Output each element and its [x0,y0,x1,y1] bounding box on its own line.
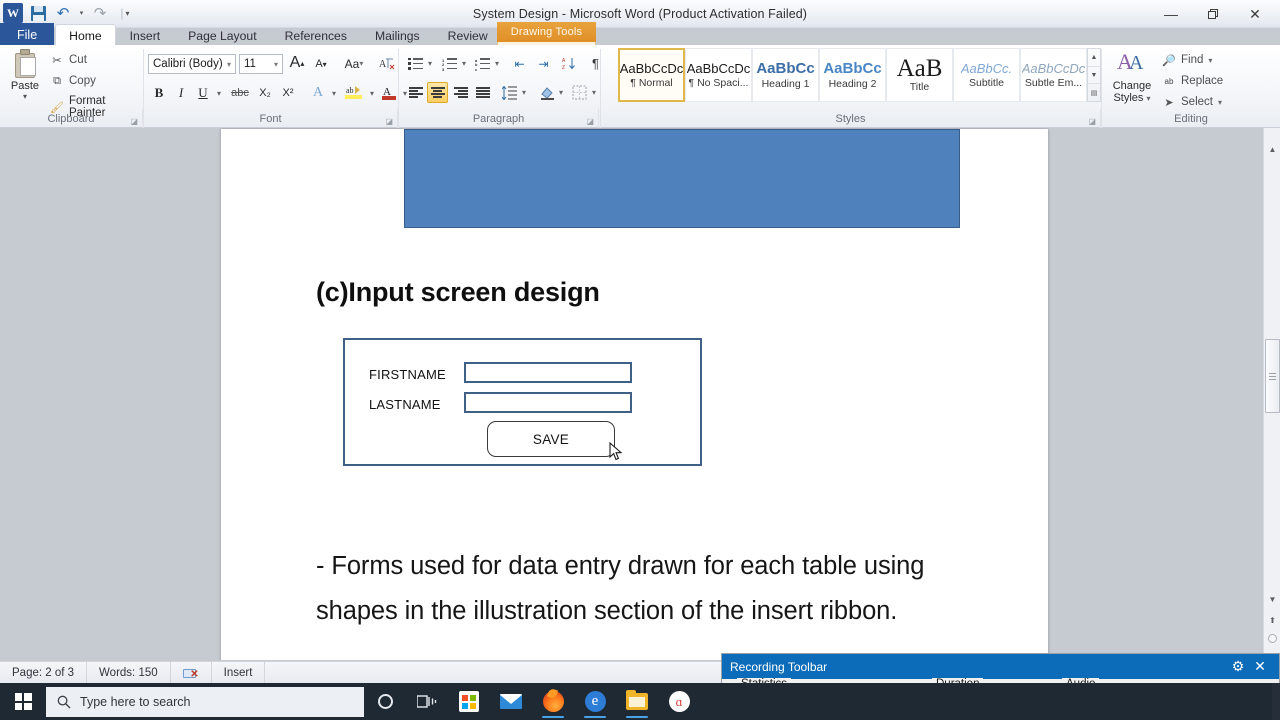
group-label-font: Font◪ [144,109,398,128]
increase-indent-button[interactable]: ⇥ [533,53,554,74]
cortana-icon[interactable] [364,683,406,720]
copy-button[interactable]: ⧉ Copy [50,74,96,88]
highlight-dropdown-icon[interactable]: ▾ [366,85,378,101]
gallery-scroll-down-icon[interactable]: ▼ [1088,67,1100,85]
chevron-down-icon[interactable]: ▾ [274,60,278,69]
system-tray[interactable] [1272,683,1280,720]
shrink-font-button[interactable]: A▾ [310,54,332,74]
font-color-button[interactable]: A [378,82,400,104]
tab-file[interactable]: File [0,23,54,46]
ribbon-group-paragraph: ▾ 123 ▾ abc ▾ ⇤ ⇥ AZ ¶ [399,45,599,109]
change-styles-label-line2: Styles ▾ [1110,92,1154,105]
recorder-app-icon[interactable]: ɑ [658,683,700,720]
font-size-input[interactable]: 11 ▾ [239,54,283,74]
styles-dialog-launcher[interactable]: ◪ [1088,117,1096,126]
previous-page-icon[interactable]: ⬆ [1264,612,1280,629]
ribbon-tabs: File Home Insert Page Layout References … [0,22,556,46]
borders-icon [572,85,587,100]
style-subtle-emphasis[interactable]: AaBbCcDc Subtle Em... [1020,48,1087,102]
gallery-scroll-up-icon[interactable]: ▲ [1088,49,1100,67]
contextual-tab-header: Drawing Tools [497,22,596,42]
text-effects-dropdown-icon[interactable]: ▾ [328,85,340,101]
text-effects-button[interactable]: A [307,83,329,103]
ribbon-group-labels: Clipboard◪ Font◪ Paragraph◪ Styles◪ Edit… [0,109,1280,128]
align-center-button[interactable] [427,82,448,103]
gear-icon[interactable]: ⚙ [1227,656,1249,678]
font-name-value: Calibri (Body) [153,58,224,70]
line-spacing-button[interactable] [499,82,520,103]
font-dialog-launcher[interactable]: ◪ [385,117,393,126]
grow-font-button[interactable]: A▴ [286,52,308,74]
status-word-count[interactable]: Words: 150 [87,662,171,684]
ribbon-group-editing: AA Change Styles ▾ 🔎 Find ▾ ab Replace ➤… [1102,45,1280,109]
style-subtitle[interactable]: AaBbCc. Subtitle [953,48,1020,102]
svg-text:A: A [562,58,566,64]
bullets-button[interactable] [405,53,426,74]
recording-toolbar-title: Recording Toolbar [730,660,1227,674]
numbering-dropdown-icon[interactable]: ▾ [459,55,469,71]
ribbon-tab-strip: File Home Insert Page Layout References … [0,22,1280,46]
decrease-indent-button[interactable]: ⇤ [509,53,530,74]
bold-button[interactable]: B [149,83,169,103]
ribbon-group-styles: AaBbCcDc ¶ Normal AaBbCcDc ¶ No Spaci...… [601,45,1101,109]
binoculars-icon: 🔎 [1162,53,1176,67]
save-button-shape[interactable]: SAVE [487,421,615,457]
paste-button[interactable]: Paste ▾ [8,49,42,101]
field-label-firstname: FIRSTNAME [369,367,446,382]
numbering-button[interactable]: 123 [439,53,460,74]
superscript-button[interactable]: X² [277,83,299,103]
font-size-value: 11 [244,58,271,70]
firefox-icon[interactable] [532,683,574,720]
align-left-icon [409,87,423,98]
justify-button[interactable] [472,82,493,103]
clear-formatting-button[interactable]: A [376,52,398,74]
bullets-dropdown-icon[interactable]: ▾ [425,55,435,71]
tab-home[interactable]: Home [55,24,116,46]
align-left-button[interactable] [405,82,426,103]
firstname-input[interactable] [464,362,632,383]
tab-review[interactable]: Review [434,24,502,46]
scroll-up-icon[interactable]: ▲ [1264,141,1280,158]
svg-text:ab: ab [346,86,354,95]
mail-icon[interactable] [490,683,532,720]
proofing-errors-icon: ✕ [183,667,199,679]
select-label: Select [1181,96,1213,108]
tab-insert[interactable]: Insert [116,24,174,46]
tab-mailings[interactable]: Mailings [361,24,434,46]
status-insert-mode[interactable]: Insert [212,662,266,684]
group-label-styles: Styles◪ [601,109,1101,128]
paste-label: Paste [8,80,42,92]
microsoft-store-icon[interactable] [448,683,490,720]
tab-page-layout[interactable]: Page Layout [174,24,270,46]
italic-button[interactable]: I [171,83,191,103]
copy-icon: ⧉ [50,74,64,88]
paragraph-dialog-launcher[interactable]: ◪ [586,117,594,126]
font-name-input[interactable]: Calibri (Body) ▾ [148,54,236,74]
style-no-spacing[interactable]: AaBbCcDc ¶ No Spaci... [685,48,752,102]
style-title[interactable]: AaB Title [886,48,953,102]
sort-button[interactable]: AZ [559,53,580,74]
borders-dropdown-icon[interactable]: ▾ [589,84,599,100]
shading-dropdown-icon[interactable]: ▾ [556,84,566,100]
find-label: Find [1181,54,1203,66]
mouse-cursor-icon [609,442,623,462]
replace-button[interactable]: ab Replace [1162,74,1223,88]
recording-toolbar-title-bar: Recording Toolbar ⚙ ✕ [722,654,1279,679]
document-canvas[interactable]: (c)Input screen design FIRSTNAME LASTNAM… [0,128,1280,660]
style-normal[interactable]: AaBbCcDc ¶ Normal [618,48,685,102]
scrollbar-thumb[interactable] [1265,339,1280,413]
start-button[interactable] [0,683,46,720]
search-placeholder: Type here to search [80,695,190,709]
scroll-down-icon[interactable]: ▼ [1264,591,1280,608]
borders-button[interactable] [569,82,590,103]
align-center-icon [431,87,445,98]
shading-button[interactable] [536,82,557,103]
strikethrough-button[interactable]: abc [228,83,252,103]
align-right-icon [454,87,468,98]
document-page[interactable]: (c)Input screen design FIRSTNAME LASTNAM… [221,129,1048,660]
group-label-editing: Editing [1102,109,1280,128]
underline-dropdown-icon[interactable]: ▾ [213,85,225,101]
bullets-icon [408,58,423,70]
subscript-button[interactable]: X₂ [254,83,276,103]
document-body-text: - Forms used for data entry drawn for ea… [316,544,956,634]
chevron-down-icon[interactable]: ▾ [227,60,231,69]
windows-taskbar: Type here to search e ɑ [0,683,1280,720]
group-label-paragraph: Paragraph◪ [399,109,599,128]
replace-label: Replace [1181,75,1223,87]
status-page-number[interactable]: Page: 2 of 3 [0,662,87,684]
file-explorer-icon[interactable] [616,683,658,720]
group-label-clipboard: Clipboard◪ [0,109,143,128]
paste-icon [12,49,38,79]
line-spacing-icon [502,86,518,100]
scissors-icon: ✂ [50,53,64,67]
styles-gallery-scroll[interactable]: ▲ ▼ ▤ [1087,48,1101,102]
change-styles-label-line1: Change [1110,80,1154,92]
clipboard-dialog-launcher[interactable]: ◪ [130,117,138,126]
select-dropdown-icon[interactable]: ▾ [1218,98,1222,107]
svg-text:A: A [1129,52,1144,74]
ribbon-group-font: Calibri (Body) ▾ 11 ▾ A▴ A▾ Aa▾ A B I U … [144,45,398,109]
section-heading: (c)Input screen design [316,277,600,308]
ribbon-group-clipboard: Paste ▾ ✂ Cut ⧉ Copy 🖌 Format Painter [0,45,143,109]
select-button[interactable]: ➤ Select ▾ [1162,95,1222,109]
svg-text:A: A [379,59,387,70]
justify-icon [476,87,490,98]
shading-icon [539,85,555,100]
multilevel-dropdown-icon[interactable]: ▾ [492,55,502,71]
blue-rectangle-shape[interactable] [404,129,960,228]
find-dropdown-icon[interactable]: ▾ [1208,56,1212,65]
replace-icon: ab [1162,74,1176,88]
find-button[interactable]: 🔎 Find ▾ [1162,53,1212,67]
vertical-scrollbar[interactable]: ▲ ▼ ⬆ ⬇ [1263,128,1280,660]
search-icon [57,695,71,709]
cursor-arrow-icon: ➤ [1162,95,1176,109]
cut-button[interactable]: ✂ Cut [50,53,87,67]
edge-icon[interactable]: e [574,683,616,720]
change-styles-icon: AA [1117,49,1147,75]
select-browse-object-icon[interactable] [1264,630,1280,647]
underline-button[interactable]: U [193,83,213,103]
multilevel-list-icon: abc [475,58,490,70]
tab-references[interactable]: References [271,24,361,46]
svg-text:Z: Z [562,65,565,71]
gallery-more-icon[interactable]: ▤ [1088,84,1100,101]
status-proofing-icon[interactable]: ✕ [171,662,212,684]
close-icon[interactable]: ✕ [1249,656,1271,678]
line-spacing-dropdown-icon[interactable]: ▾ [519,84,529,100]
copy-label: Copy [69,75,96,87]
style-heading-2[interactable]: AaBbCc Heading 2 [819,48,886,102]
change-case-button[interactable]: Aa▾ [338,53,370,74]
change-styles-button[interactable]: AA Change Styles ▾ [1110,49,1154,105]
paste-dropdown-icon[interactable]: ▾ [8,92,42,101]
word-application-window: W ↶ ▾ ↷ |▾ System Design - Microsoft Wor… [0,0,1280,720]
align-right-button[interactable] [450,82,471,103]
cut-label: Cut [69,54,87,66]
style-heading-1[interactable]: AaBbCс Heading 1 [752,48,819,102]
lastname-input[interactable] [464,392,632,413]
multilevel-list-button[interactable]: abc [472,53,493,74]
field-label-lastname: LASTNAME [369,397,441,412]
highlight-color-button[interactable]: ab [342,82,366,104]
taskbar-search-input[interactable]: Type here to search [46,687,364,717]
numbering-icon: 123 [442,58,457,70]
windows-logo-icon [15,693,32,710]
task-view-icon[interactable] [406,683,448,720]
